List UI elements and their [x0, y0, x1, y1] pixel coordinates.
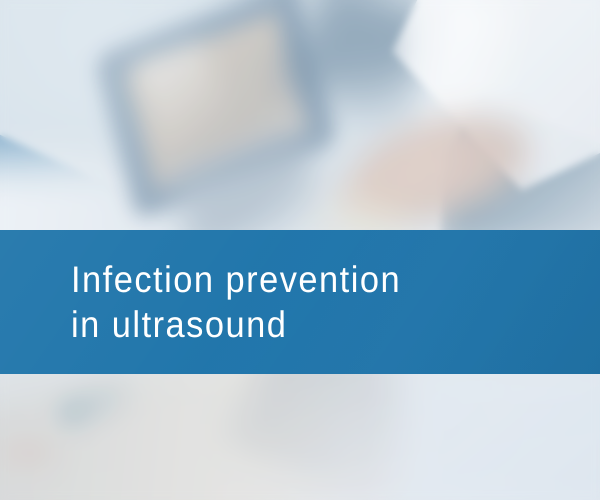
page-title-line-1: Infection prevention [71, 257, 563, 302]
drape-highlight-right [400, 360, 600, 500]
page-title-line-2: in ultrasound [71, 302, 563, 347]
title-banner: Infection prevention in ultrasound [0, 230, 600, 374]
instrument-blur-secondary [0, 430, 70, 476]
infection-prevention-banner-card: Infection prevention in ultrasound [0, 0, 600, 500]
